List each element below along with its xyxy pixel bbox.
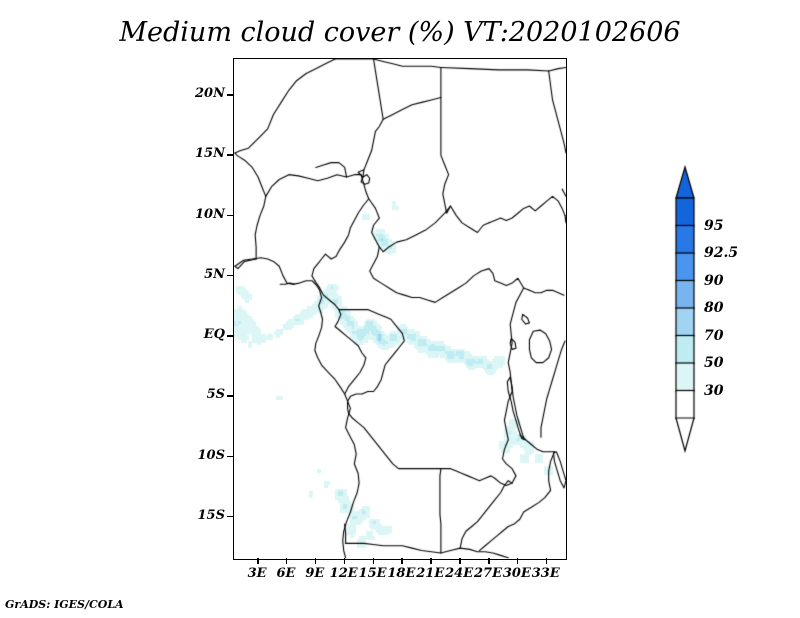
- colorbar-tick-label: 80: [704, 300, 723, 316]
- x-axis-tick-mark: [344, 558, 346, 564]
- y-axis-tick-mark: [227, 516, 233, 518]
- y-axis-tick-label: 20N: [179, 86, 225, 101]
- y-axis-tick-label: 5S: [179, 387, 225, 402]
- y-axis-tick-label: 15S: [179, 508, 225, 523]
- x-axis-tick-label: 33E: [526, 566, 566, 581]
- colorbar-tick-label: 95: [704, 218, 723, 234]
- colorbar-tick-label: 50: [704, 355, 723, 371]
- colorbar-tick-label: 90: [704, 273, 723, 289]
- x-axis-tick-mark: [401, 558, 403, 564]
- y-axis-tick-label: 5N: [179, 267, 225, 282]
- x-axis-tick-mark: [546, 558, 548, 564]
- x-axis-tick-mark: [517, 558, 519, 564]
- colorbar-tick-label: 30: [704, 383, 723, 399]
- x-axis-tick-mark: [286, 558, 288, 564]
- y-axis-tick-mark: [227, 275, 233, 277]
- y-axis-tick-mark: [227, 215, 233, 217]
- y-axis-tick-label: 15N: [179, 146, 225, 161]
- colorbar-canvas: [670, 165, 700, 453]
- y-axis-tick-mark: [227, 154, 233, 156]
- y-axis-tick-mark: [227, 395, 233, 397]
- x-axis-tick-mark: [373, 558, 375, 564]
- page-title: Medium cloud cover (%) VT:2020102606: [0, 17, 800, 48]
- y-axis-tick-label: EQ: [179, 327, 225, 342]
- footer-credit: GrADS: IGES/COLA: [5, 598, 124, 611]
- colorbar: [670, 165, 700, 453]
- x-axis-tick-mark: [430, 558, 432, 564]
- x-axis-tick-mark: [257, 558, 259, 564]
- y-axis-tick-label: 10N: [179, 207, 225, 222]
- y-axis-tick-mark: [227, 456, 233, 458]
- x-axis-tick-mark: [315, 558, 317, 564]
- x-axis-tick-mark: [459, 558, 461, 564]
- y-axis-tick-mark: [227, 94, 233, 96]
- cloud-cover-map-canvas: [234, 59, 566, 559]
- colorbar-tick-label: 70: [704, 328, 723, 344]
- y-axis-tick-label: 10S: [179, 448, 225, 463]
- map-plot-area: [233, 58, 567, 560]
- x-axis-tick-mark: [488, 558, 490, 564]
- grads-plot-page: Medium cloud cover (%) VT:2020102606 959…: [0, 0, 800, 618]
- colorbar-tick-label: 92.5: [704, 245, 738, 261]
- y-axis-tick-mark: [227, 335, 233, 337]
